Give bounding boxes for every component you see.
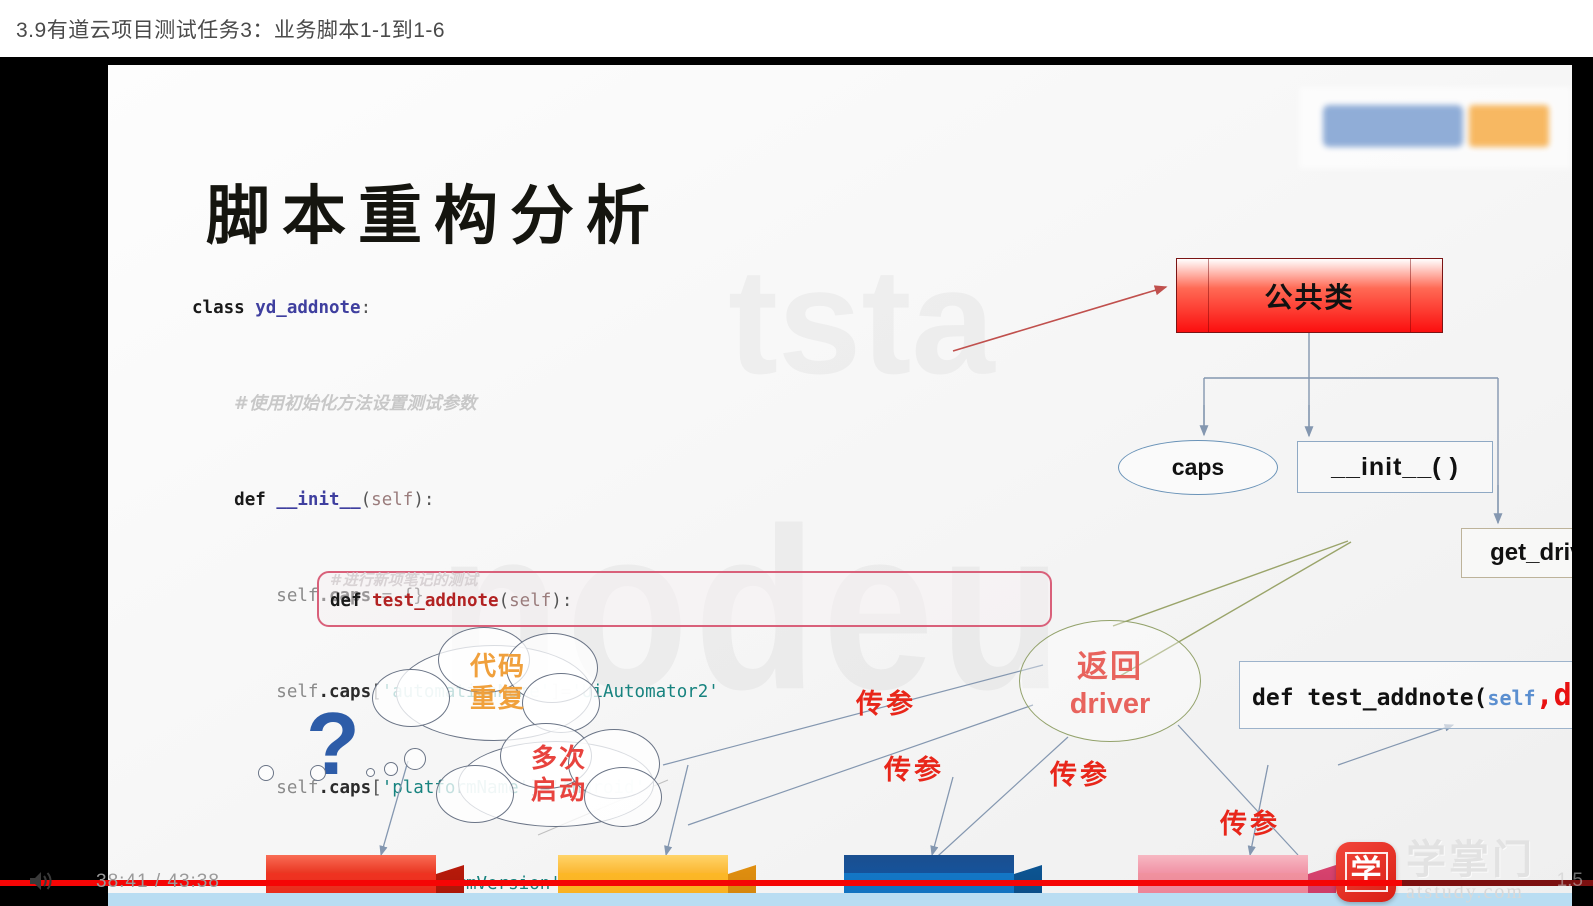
node-init-label: __init__( ) xyxy=(1331,453,1459,482)
sig-driver: ,driver xyxy=(1536,678,1572,713)
fn-init: __init__ xyxy=(276,490,360,510)
thought-bubble-1 xyxy=(404,748,426,770)
cloud2-line2: 启动 xyxy=(531,776,587,806)
cloud1-line2: 重复 xyxy=(470,684,526,714)
node-get-driver: get_driver( ) xyxy=(1461,528,1572,578)
sig-prefix: def test_addnote( xyxy=(1252,685,1487,711)
atstudy-mark-icon: 学 xyxy=(1336,842,1396,902)
keyword-def-2: def xyxy=(330,591,362,611)
node-def-signature: def test_addnote(self,driver) xyxy=(1239,661,1572,729)
thought-cloud-1-text: 代码 重复 xyxy=(443,651,553,715)
thought-bubble-4 xyxy=(310,765,326,781)
sig-self: self xyxy=(1487,686,1535,710)
keyword-def-1: def xyxy=(234,490,266,510)
fn-test-addnote: test_addnote xyxy=(372,591,498,611)
volume-icon[interactable] xyxy=(28,870,54,892)
node-return-label-en: driver xyxy=(1070,688,1151,721)
page-header: 3.9有道云项目测试任务3：业务脚本1-1到1-6 xyxy=(0,0,1593,57)
code-line-def-test-addnote: def test_addnote(self): xyxy=(330,591,572,611)
node-return-label-cn: 返回 xyxy=(1077,641,1143,686)
thought-cloud-2-lobe-a xyxy=(436,765,514,823)
atstudy-wordmark: 学掌门 atstudy.com xyxy=(1406,839,1535,904)
atstudy-name-cn: 学掌门 xyxy=(1406,839,1535,881)
keyword-class: class xyxy=(192,298,245,318)
video-player[interactable]: nodeu tsta 脚本重构分析 class yd_addnote: #使用初… xyxy=(0,57,1593,906)
label-pass-param-2: 传参 xyxy=(884,748,944,787)
playback-speed-display[interactable]: 1.5 xyxy=(1557,870,1583,892)
node-get-driver-label: get_driver( ) xyxy=(1490,539,1572,567)
def-signature-text: def test_addnote(self,driver) xyxy=(1252,678,1572,713)
cube-delete-top xyxy=(844,855,1014,875)
node-return-driver: 返回 driver xyxy=(1019,620,1201,742)
param-self-2: self xyxy=(509,591,551,611)
comment-test-addnote: #进行新项笔记的测试 xyxy=(330,569,478,590)
cube-search-top xyxy=(266,855,436,875)
atstudy-logo: 学 学掌门 atstudy.com xyxy=(1336,839,1535,904)
class-name: yd_addnote xyxy=(255,298,360,318)
code-line-def-init: def __init__(self): xyxy=(192,488,940,512)
cube-modify-top xyxy=(558,855,728,875)
time-display: 38:41 / 43:38 xyxy=(96,871,220,893)
page-title: 3.9有道云项目测试任务3：业务脚本1-1到1-6 xyxy=(16,14,445,44)
thought-bubble-2 xyxy=(384,762,398,776)
thought-bubble-3 xyxy=(366,768,375,777)
thought-bubble-5 xyxy=(258,765,274,781)
thought-cloud-2-text: 多次 启动 xyxy=(504,743,614,807)
label-pass-param-3: 传参 xyxy=(1050,753,1110,792)
label-pass-param-1: 传参 xyxy=(856,682,916,721)
thought-cloud-1-lobe-a xyxy=(372,669,450,727)
ppt-watermark xyxy=(1299,87,1571,169)
slide-heading: 脚本重构分析 xyxy=(206,165,662,257)
slide-canvas: nodeu tsta 脚本重构分析 class yd_addnote: #使用初… xyxy=(108,65,1572,906)
self-ref-1: self xyxy=(276,586,318,606)
code-line-comment: #使用初始化方法设置测试参数 xyxy=(192,392,940,416)
paren-close: ): xyxy=(551,591,572,611)
arrow-code-to-public-class xyxy=(953,287,1166,351)
node-caps: caps xyxy=(1118,440,1278,495)
node-public-class: 公共类 xyxy=(1176,258,1443,333)
line-return-to-getdriver-1 xyxy=(1113,541,1348,626)
watermark-orange-block xyxy=(1469,105,1549,147)
letterbox-left xyxy=(0,114,108,906)
comment-init-params: #使用初始化方法设置测试参数 xyxy=(234,394,476,414)
code-line-class: class yd_addnote: xyxy=(192,296,940,320)
node-caps-label: caps xyxy=(1172,454,1224,481)
cloud2-line1: 多次 xyxy=(531,744,587,774)
label-pass-param-4: 传参 xyxy=(1220,802,1280,841)
spoke-3 xyxy=(928,737,1068,865)
arrow-def-signature xyxy=(1338,725,1453,765)
cube-add-top xyxy=(1138,855,1308,875)
paren-open: ( xyxy=(499,591,510,611)
node-public-class-label: 公共类 xyxy=(1264,276,1354,316)
colon-1: : xyxy=(361,298,372,318)
param-self-1: self xyxy=(371,490,413,510)
watermark-blue-block xyxy=(1323,105,1463,147)
cloud1-line1: 代码 xyxy=(470,652,526,682)
node-init: __init__( ) xyxy=(1297,441,1493,493)
progress-bar-track[interactable] xyxy=(0,880,1593,886)
